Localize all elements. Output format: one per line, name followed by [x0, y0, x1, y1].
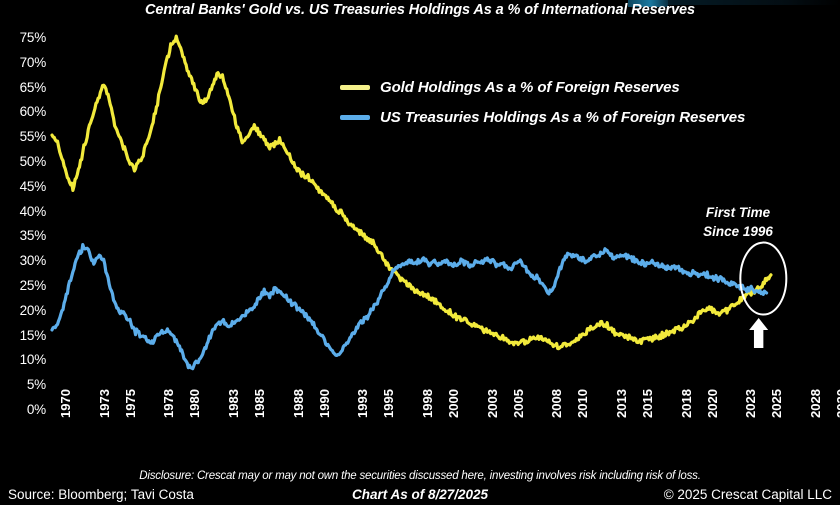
annotation-line-2: Since 1996 [688, 222, 788, 241]
legend-label-treasuries: US Treasuries Holdings As a % of Foreign… [380, 109, 745, 126]
annotation-up-arrow-icon [749, 318, 768, 348]
footer-source: Source: Bloomberg; Tavi Costa [8, 487, 194, 502]
footer-disclosure: Disclosure: Crescat may or may not own t… [0, 470, 840, 482]
annotation-first-time: First Time Since 1996 [688, 203, 788, 241]
legend-swatch-gold [340, 85, 370, 90]
series-line-treasuries [52, 245, 767, 369]
legend-label-gold: Gold Holdings As a % of Foreign Reserves [380, 79, 680, 96]
legend-item-treasuries: US Treasuries Holdings As a % of Foreign… [340, 102, 745, 132]
legend-item-gold: Gold Holdings As a % of Foreign Reserves [340, 72, 745, 102]
legend-swatch-treasuries [340, 115, 370, 120]
annotation-ellipse [740, 243, 786, 315]
annotation-line-1: First Time [688, 203, 788, 222]
footer-copyright: © 2025 Crescat Capital LLC [664, 487, 832, 502]
chart-root: Central Banks' Gold vs. US Treasuries Ho… [0, 0, 840, 505]
chart-legend: Gold Holdings As a % of Foreign Reserves… [340, 72, 745, 132]
